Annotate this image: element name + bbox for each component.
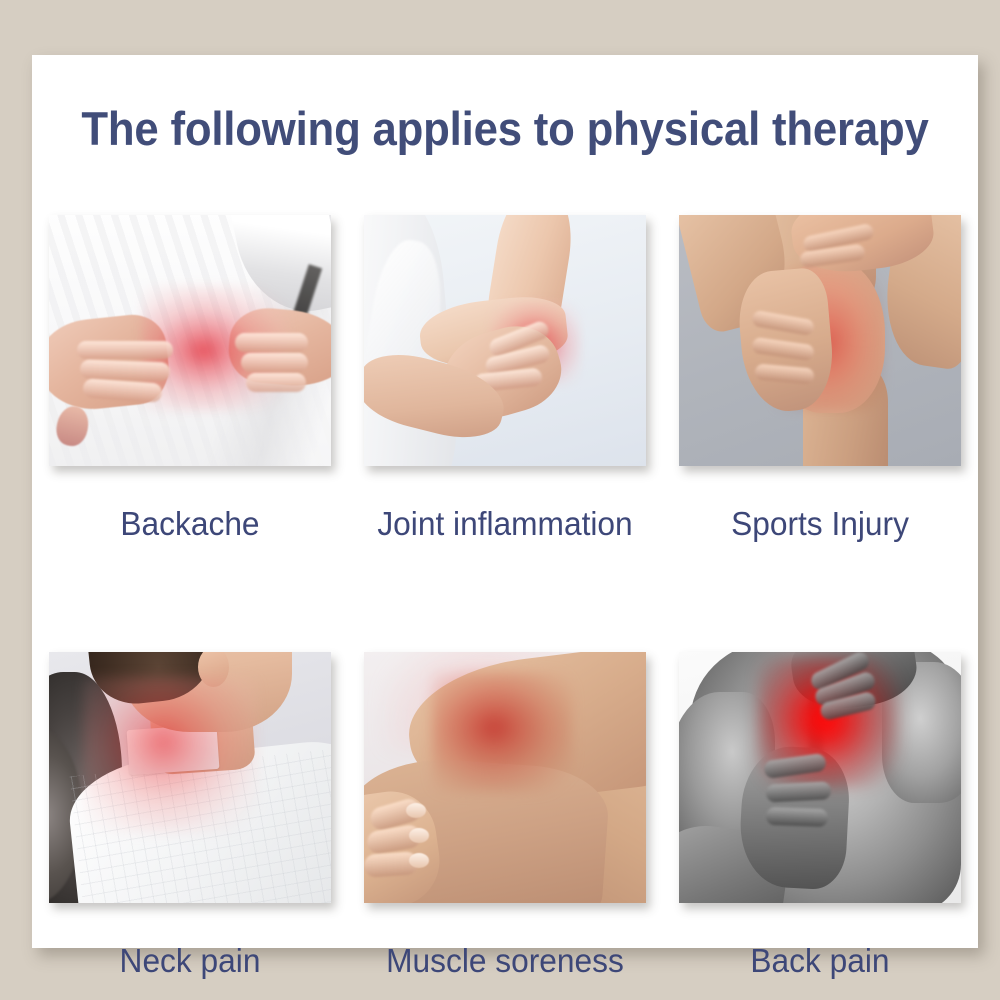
condition-grid: Backache Joint inflammatio [44,215,966,977]
condition-item-back-pain[interactable]: Back pain [674,652,966,977]
condition-item-muscle-soreness[interactable]: Muscle soreness [359,652,651,977]
sports-injury-photo [679,215,961,466]
condition-item-joint-inflammation[interactable]: Joint inflammation [359,215,651,540]
condition-label: Neck pain [50,944,330,977]
condition-label: Muscle soreness [365,944,645,977]
condition-label: Back pain [680,944,960,977]
condition-item-sports-injury[interactable]: Sports Injury [674,215,966,540]
condition-label: Joint inflammation [365,507,645,540]
white-card-panel: The following applies to physical therap… [32,55,978,948]
joint-inflammation-photo [364,215,646,466]
condition-label: Backache [50,507,330,540]
backache-photo [49,215,331,466]
condition-item-neck-pain[interactable]: Neck pain [44,652,336,977]
condition-label: Sports Injury [680,507,960,540]
muscle-soreness-photo [364,652,646,903]
page-title: The following applies to physical therap… [65,105,945,152]
neck-pain-photo [49,652,331,903]
product-infographic: The following applies to physical therap… [0,0,1000,1000]
back-pain-photo [679,652,961,903]
condition-item-backache[interactable]: Backache [44,215,336,540]
